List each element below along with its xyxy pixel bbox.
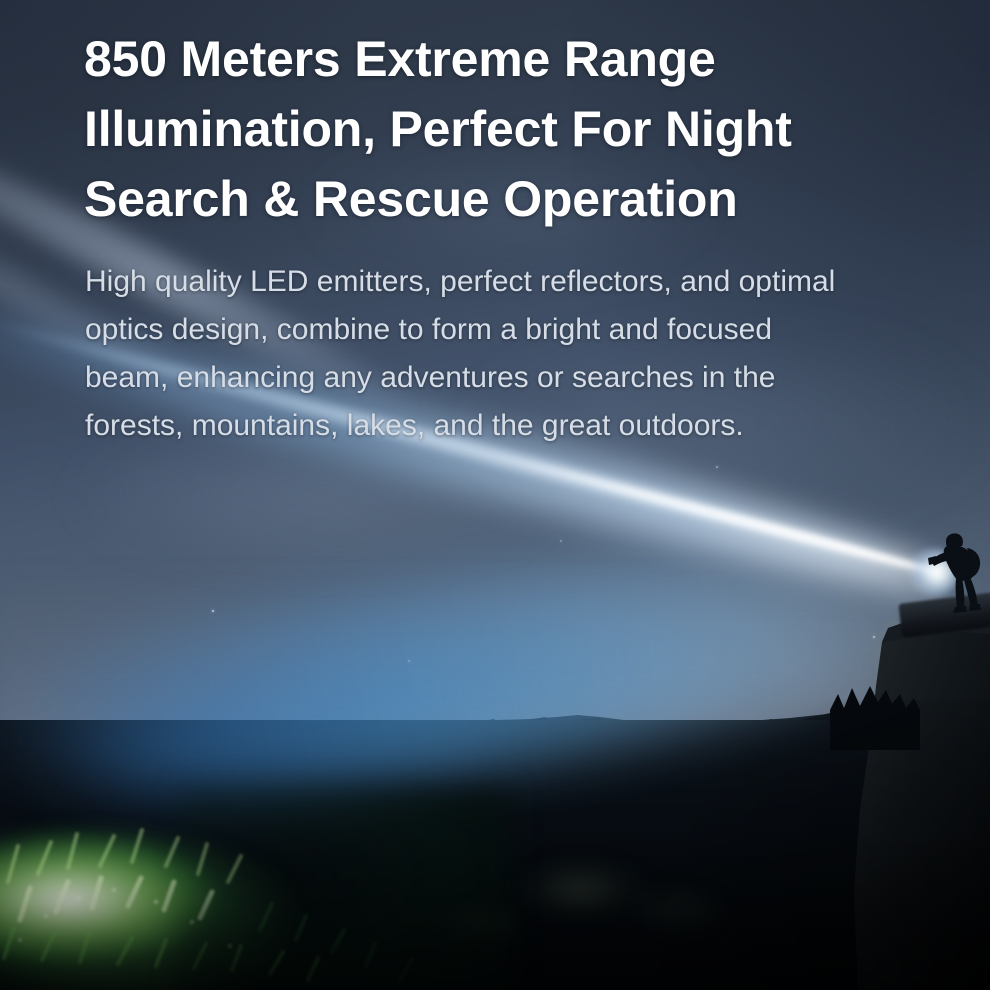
headline-line: 850 Meters Extreme Range [84,31,716,87]
body-line: High quality LED emitters, perfect refle… [85,265,835,298]
headline-line: Illumination, Perfect For Night [84,101,792,157]
foliage-shadow-edge [180,790,510,990]
promo-banner: 850 Meters Extreme RangeIllumination, Pe… [0,0,990,990]
body-line: beam, enhancing any adventures or search… [85,361,775,394]
page-title: 850 Meters Extreme RangeIllumination, Pe… [84,24,984,234]
star [408,660,410,662]
rock-outcrop [830,590,990,990]
person-silhouette [915,532,990,632]
rock-outcrop-shape [830,590,990,990]
description-paragraph: High quality LED emitters, perfect refle… [85,258,990,450]
star [560,540,562,542]
star [212,610,214,612]
headline-line: Search & Rescue Operation [84,171,738,227]
body-line: optics design, combine to form a bright … [85,313,772,346]
person-with-flashlight-shape [915,532,990,632]
text-overlay: 850 Meters Extreme RangeIllumination, Pe… [0,0,990,460]
body-line: forests, mountains, lakes, and the great… [85,409,744,442]
star [716,466,718,468]
